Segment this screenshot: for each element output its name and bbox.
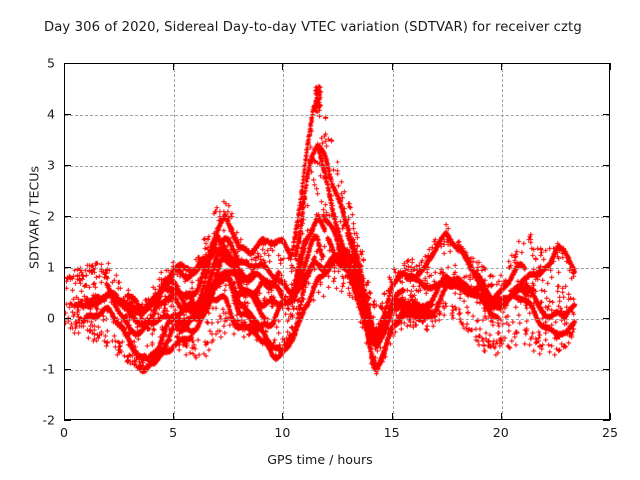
y-tick-mark (603, 318, 610, 319)
figure-root: Day 306 of 2020, Sidereal Day-to-day VTE… (0, 0, 640, 480)
x-tick-mark (282, 63, 283, 70)
gridline-horizontal (65, 115, 609, 116)
gridline-vertical (502, 64, 503, 419)
plot-area (64, 63, 610, 420)
gridline-vertical (393, 64, 394, 419)
y-tick-mark (64, 369, 71, 370)
x-tick-mark (64, 63, 65, 70)
x-tick-label: 15 (362, 425, 422, 440)
x-tick-mark (501, 63, 502, 70)
y-tick-mark (64, 216, 71, 217)
gridline-horizontal (65, 217, 609, 218)
gridline-horizontal (65, 166, 609, 167)
x-tick-label: 20 (471, 425, 531, 440)
x-tick-mark (173, 413, 174, 420)
gridline-vertical (174, 64, 175, 419)
x-tick-mark (392, 413, 393, 420)
gridline-horizontal (65, 370, 609, 371)
y-tick-mark (64, 318, 71, 319)
x-tick-mark (392, 63, 393, 70)
y-tick-label: 3 (0, 158, 55, 173)
x-tick-mark (173, 63, 174, 70)
y-tick-mark (603, 63, 610, 64)
x-tick-mark (282, 413, 283, 420)
y-tick-mark (603, 216, 610, 217)
y-tick-label: 2 (0, 209, 55, 224)
page-title: Day 306 of 2020, Sidereal Day-to-day VTE… (44, 20, 636, 35)
y-tick-mark (603, 165, 610, 166)
y-tick-mark (603, 369, 610, 370)
x-tick-mark (64, 413, 65, 420)
x-tick-mark (501, 413, 502, 420)
x-tick-label: 0 (34, 425, 94, 440)
x-tick-label: 25 (580, 425, 640, 440)
y-tick-label: 0 (0, 311, 55, 326)
y-tick-mark (603, 114, 610, 115)
x-tick-mark (610, 63, 611, 70)
y-tick-mark (64, 114, 71, 115)
x-tick-label: 10 (252, 425, 312, 440)
y-tick-label: 4 (0, 107, 55, 122)
gridline-horizontal (65, 268, 609, 269)
gridline-horizontal (65, 319, 609, 320)
y-tick-label: 1 (0, 260, 55, 275)
y-tick-mark (64, 420, 71, 421)
y-tick-mark (64, 165, 71, 166)
y-tick-mark (64, 267, 71, 268)
x-axis-label: GPS time / hours (0, 452, 640, 467)
x-tick-label: 5 (143, 425, 203, 440)
gridline-vertical (283, 64, 284, 419)
y-tick-label: -1 (0, 362, 55, 377)
y-tick-mark (603, 267, 610, 268)
y-tick-mark (603, 420, 610, 421)
y-tick-mark (64, 63, 71, 64)
scatter-canvas (65, 64, 609, 419)
x-tick-mark (610, 413, 611, 420)
y-tick-label: 5 (0, 56, 55, 71)
